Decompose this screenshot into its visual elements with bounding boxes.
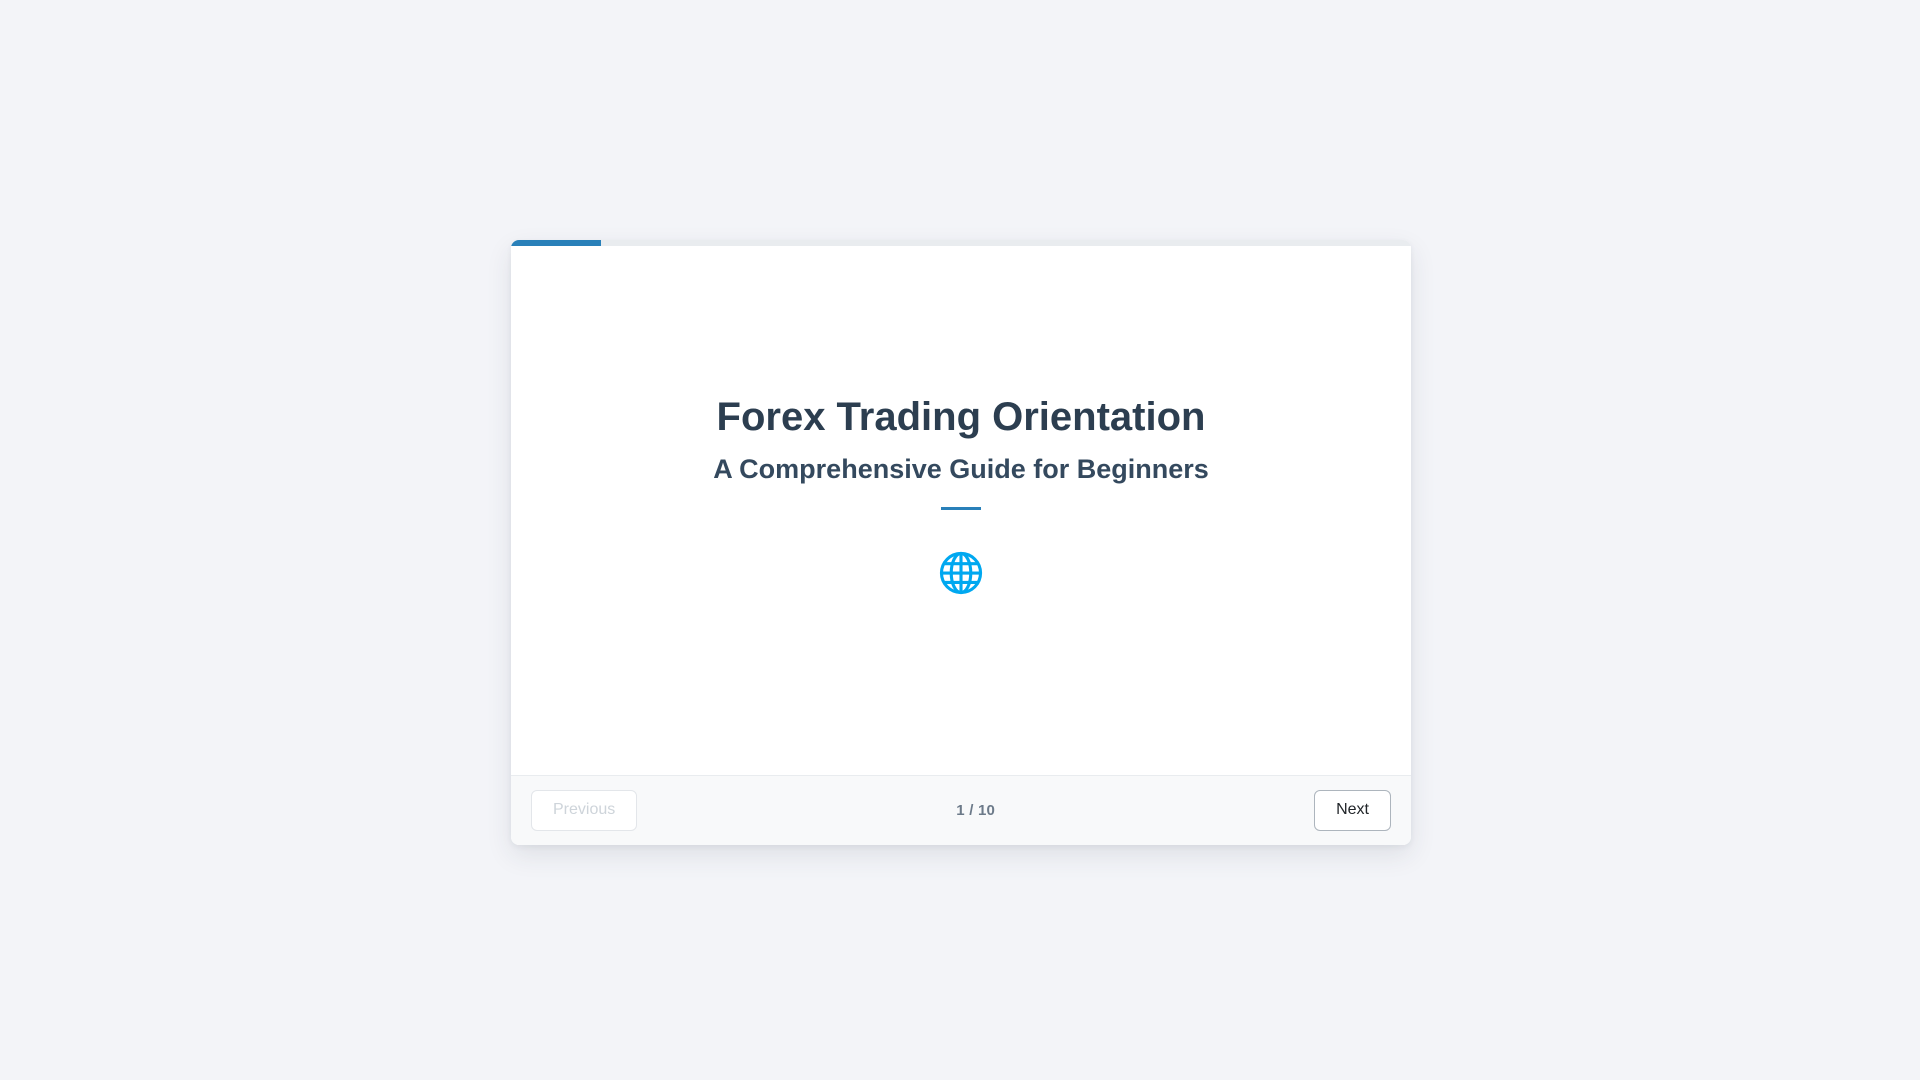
slide-content-area: Forex Trading Orientation A Comprehensiv…	[511, 246, 1411, 775]
slide-subtitle: A Comprehensive Guide for Beginners	[713, 453, 1209, 485]
presentation-card: Forex Trading Orientation A Comprehensiv…	[511, 240, 1411, 845]
title-divider	[941, 507, 981, 510]
slide-title: Forex Trading Orientation	[717, 394, 1206, 440]
previous-button[interactable]: Previous	[531, 790, 637, 831]
app-viewport: Forex Trading Orientation A Comprehensiv…	[0, 0, 1920, 1080]
slide-title-block: Forex Trading Orientation A Comprehensiv…	[511, 394, 1411, 598]
globe-with-meridians-icon	[936, 548, 986, 598]
slide-counter: 1 / 10	[956, 802, 995, 819]
slide-navigation-footer: Previous 1 / 10 Next	[511, 775, 1411, 845]
next-button[interactable]: Next	[1314, 790, 1391, 831]
